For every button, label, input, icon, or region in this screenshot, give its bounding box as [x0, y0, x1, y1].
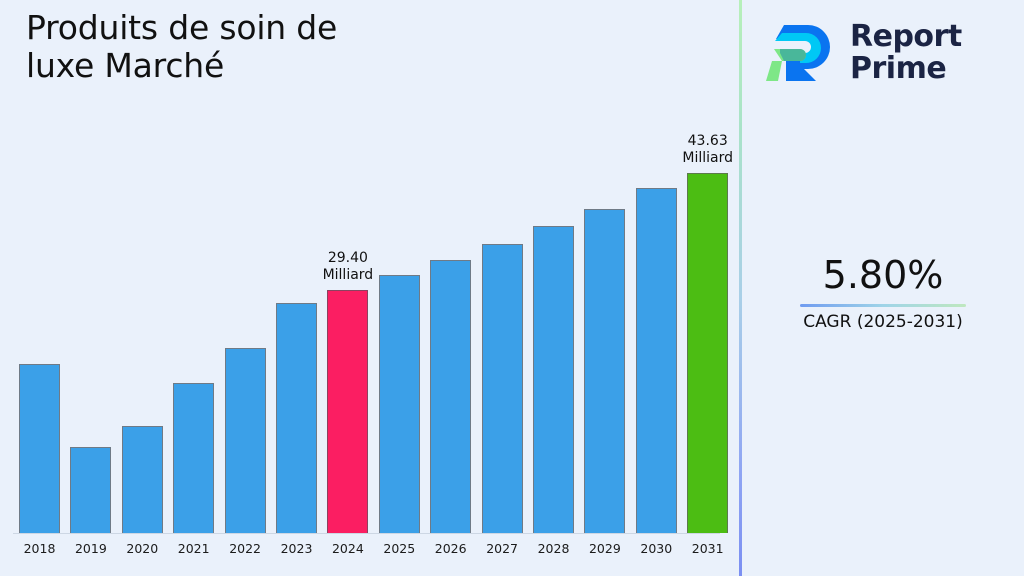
value-label-2024: 29.40 Milliard: [288, 250, 408, 284]
bar-2021[interactable]: [173, 383, 214, 533]
cagr-caption: CAGR (2025-2031): [742, 311, 1024, 333]
x-tick-2023: 2023: [276, 541, 317, 559]
report-prime-logo-mark-icon: [764, 19, 836, 87]
x-tick-2030: 2030: [636, 541, 677, 559]
bar-2019[interactable]: [70, 447, 111, 533]
bar-2022[interactable]: [225, 348, 266, 533]
bar-2029[interactable]: [584, 209, 625, 533]
cagr-block: 5.80% CAGR (2025-2031): [742, 252, 1024, 333]
bar-2031[interactable]: [687, 173, 728, 533]
cagr-value: 5.80%: [742, 252, 1024, 298]
x-tick-2027: 2027: [482, 541, 523, 559]
brand-logo-text: Report Prime: [850, 21, 962, 85]
bar-2025[interactable]: [379, 275, 420, 533]
brand-logo: Report Prime: [764, 14, 1004, 92]
info-panel: Report Prime 5.80% CAGR (2025-2031): [742, 0, 1024, 576]
x-axis-line: [13, 533, 720, 534]
bar-2024[interactable]: [327, 290, 368, 533]
bar-chart: 29.40 Milliard43.63 Milliard 20182019202…: [0, 0, 739, 576]
bar-2027[interactable]: [482, 244, 523, 533]
bar-2018[interactable]: [19, 364, 60, 533]
x-tick-2022: 2022: [225, 541, 266, 559]
x-tick-2026: 2026: [430, 541, 471, 559]
cagr-divider-rule: [800, 304, 966, 307]
x-tick-2028: 2028: [533, 541, 574, 559]
x-tick-2021: 2021: [173, 541, 214, 559]
bar-2023[interactable]: [276, 303, 317, 533]
bar-2026[interactable]: [430, 260, 471, 533]
bar-2030[interactable]: [636, 188, 677, 533]
x-tick-2020: 2020: [122, 541, 163, 559]
x-tick-2018: 2018: [19, 541, 60, 559]
x-tick-2019: 2019: [70, 541, 111, 559]
bar-2028[interactable]: [533, 226, 574, 533]
x-tick-2031: 2031: [687, 541, 728, 559]
chart-panel: Produits de soin de luxe Marché 29.40 Mi…: [0, 0, 739, 576]
x-tick-2029: 2029: [584, 541, 625, 559]
bar-2020[interactable]: [122, 426, 163, 533]
x-tick-2025: 2025: [379, 541, 420, 559]
screenshot-root: Produits de soin de luxe Marché 29.40 Mi…: [0, 0, 1024, 576]
x-tick-2024: 2024: [327, 541, 368, 559]
